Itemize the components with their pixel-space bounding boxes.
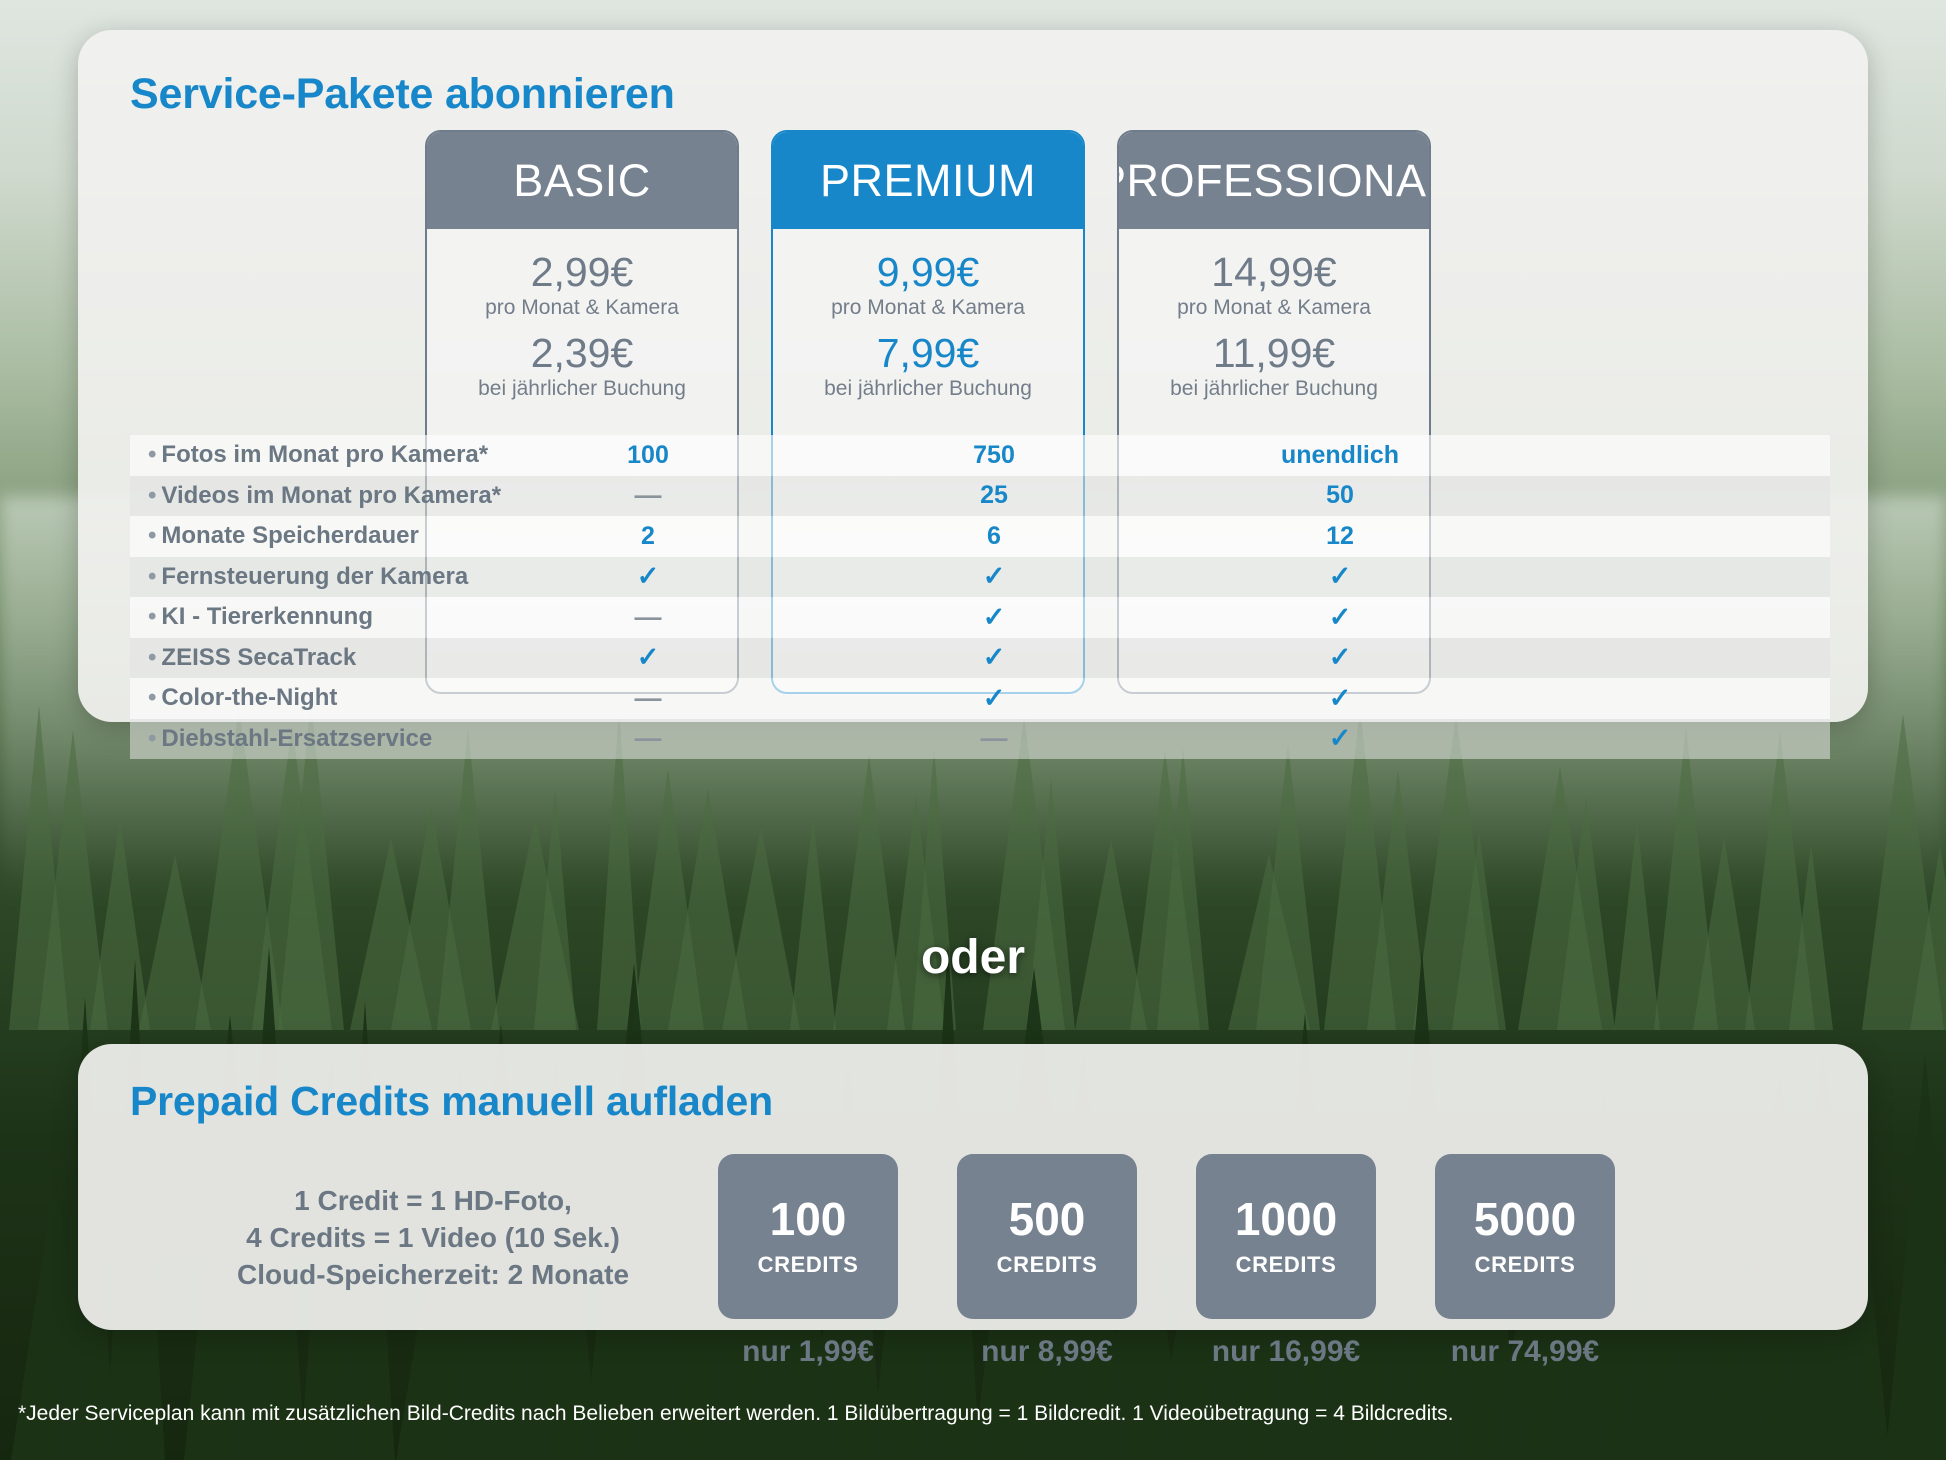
credits-title: Prepaid Credits manuell aufladen <box>130 1078 773 1125</box>
feature-value-professional: unendlich <box>1167 441 1513 470</box>
bullet-icon: • <box>148 684 156 711</box>
plan-yearly-sub-basic: bei jährlicher Buchung <box>427 377 737 401</box>
bullet-icon: • <box>148 482 156 509</box>
feature-value-basic: — <box>475 723 821 754</box>
credit-pack-button-1000[interactable]: 1000CREDITS <box>1196 1154 1376 1319</box>
credit-pack-price: nur 74,99€ <box>1435 1335 1615 1369</box>
feature-row: •Fotos im Monat pro Kamera*100750unendli… <box>130 435 1830 476</box>
feature-value-professional: ✓ <box>1167 723 1513 754</box>
credit-pack-item: 5000CREDITSnur 74,99€ <box>1435 1154 1615 1369</box>
tree-silhouette <box>1885 1055 1946 1460</box>
plan-pricing-premium: 9,99€ pro Monat & Kamera 7,99€ bei jährl… <box>773 229 1083 401</box>
bullet-icon: • <box>148 644 156 671</box>
credit-pack-price: nur 8,99€ <box>957 1335 1137 1369</box>
feature-label: •Monate Speicherdauer <box>130 522 475 550</box>
plan-yearly-price-professional: 11,99€ <box>1119 332 1429 375</box>
bullet-icon: • <box>148 603 156 630</box>
credit-pack-unit-label: CREDITS <box>1236 1252 1337 1278</box>
plan-yearly-price-basic: 2,39€ <box>427 332 737 375</box>
feature-label-text: Fotos im Monat pro Kamera* <box>161 441 488 468</box>
feature-value-basic: 2 <box>475 522 821 551</box>
feature-value-basic: — <box>475 683 821 714</box>
feature-value-professional: 50 <box>1167 481 1513 510</box>
credits-info-line: Cloud-Speicherzeit: 2 Monate <box>198 1256 668 1293</box>
bullet-icon: • <box>148 725 156 752</box>
feature-value-professional: 12 <box>1167 522 1513 551</box>
feature-label: •ZEISS SecaTrack <box>130 644 475 672</box>
feature-value-premium: ✓ <box>821 642 1167 673</box>
plan-name-professional: PROFESSIONAL <box>1119 132 1429 229</box>
feature-row: •Fernsteuerung der Kamera✓✓✓ <box>130 557 1830 598</box>
plan-monthly-sub-basic: pro Monat & Kamera <box>427 296 737 320</box>
feature-value-premium: ✓ <box>821 602 1167 633</box>
credits-info-text: 1 Credit = 1 HD-Foto,4 Credits = 1 Video… <box>198 1182 668 1294</box>
plan-monthly-price-premium: 9,99€ <box>773 251 1083 294</box>
feature-value-premium: ✓ <box>821 683 1167 714</box>
feature-label: •KI - Tiererkennung <box>130 603 475 631</box>
feature-label-text: Color-the-Night <box>161 684 337 711</box>
plan-pricing-basic: 2,99€ pro Monat & Kamera 2,39€ bei jährl… <box>427 229 737 401</box>
credit-pack-price: nur 1,99€ <box>718 1335 898 1369</box>
feature-label: •Fotos im Monat pro Kamera* <box>130 441 475 469</box>
credit-pack-amount: 100 <box>770 1196 847 1242</box>
feature-label: •Diebstahl-Ersatzservice <box>130 725 475 753</box>
plan-yearly-sub-professional: bei jährlicher Buchung <box>1119 377 1429 401</box>
feature-value-basic: ✓ <box>475 642 821 673</box>
credit-pack-unit-label: CREDITS <box>758 1252 859 1278</box>
credit-pack-list: 100CREDITSnur 1,99€500CREDITSnur 8,99€10… <box>718 1154 1615 1369</box>
page-title: Service-Pakete abonnieren <box>130 70 675 119</box>
feature-row: •Color-the-Night—✓✓ <box>130 678 1830 719</box>
feature-value-premium: ✓ <box>821 561 1167 592</box>
plan-monthly-price-professional: 14,99€ <box>1119 251 1429 294</box>
plan-monthly-sub-professional: pro Monat & Kamera <box>1119 296 1429 320</box>
credits-info-line: 1 Credit = 1 HD-Foto, <box>198 1182 668 1219</box>
credit-pack-unit-label: CREDITS <box>1475 1252 1576 1278</box>
feature-value-premium: 750 <box>821 441 1167 470</box>
feature-comparison-table: •Fotos im Monat pro Kamera*100750unendli… <box>130 435 1830 759</box>
feature-value-professional: ✓ <box>1167 642 1513 673</box>
feature-value-premium: 6 <box>821 522 1167 551</box>
credit-pack-item: 100CREDITSnur 1,99€ <box>718 1154 898 1369</box>
plan-yearly-price-premium: 7,99€ <box>773 332 1083 375</box>
credit-pack-button-5000[interactable]: 5000CREDITS <box>1435 1154 1615 1319</box>
credit-pack-price: nur 16,99€ <box>1196 1335 1376 1369</box>
feature-value-professional: ✓ <box>1167 602 1513 633</box>
plan-name-premium: PREMIUM <box>773 132 1083 229</box>
feature-label-text: KI - Tiererkennung <box>161 603 373 630</box>
feature-value-premium: — <box>821 723 1167 754</box>
feature-row: •Videos im Monat pro Kamera*—2550 <box>130 476 1830 517</box>
feature-row: •Diebstahl-Ersatzservice——✓ <box>130 719 1830 760</box>
feature-row: •Monate Speicherdauer2612 <box>130 516 1830 557</box>
feature-row: •KI - Tiererkennung—✓✓ <box>130 597 1830 638</box>
plan-name-basic: BASIC <box>427 132 737 229</box>
feature-label: •Fernsteuerung der Kamera <box>130 563 475 591</box>
feature-value-basic: ✓ <box>475 561 821 592</box>
plan-pricing-professional: 14,99€ pro Monat & Kamera 11,99€ bei jäh… <box>1119 229 1429 401</box>
feature-label-text: ZEISS SecaTrack <box>161 644 356 671</box>
feature-value-basic: — <box>475 602 821 633</box>
credit-pack-unit-label: CREDITS <box>997 1252 1098 1278</box>
credit-pack-button-500[interactable]: 500CREDITS <box>957 1154 1137 1319</box>
plan-monthly-sub-premium: pro Monat & Kamera <box>773 296 1083 320</box>
credit-pack-item: 1000CREDITSnur 16,99€ <box>1196 1154 1376 1369</box>
feature-value-professional: ✓ <box>1167 683 1513 714</box>
bullet-icon: • <box>148 441 156 468</box>
credit-pack-amount: 1000 <box>1235 1196 1337 1242</box>
bullet-icon: • <box>148 563 156 590</box>
bullet-icon: • <box>148 522 156 549</box>
feature-value-premium: 25 <box>821 481 1167 510</box>
feature-label-text: Fernsteuerung der Kamera <box>161 563 468 590</box>
feature-label-text: Monate Speicherdauer <box>161 522 418 549</box>
feature-row: •ZEISS SecaTrack✓✓✓ <box>130 638 1830 679</box>
feature-label: •Videos im Monat pro Kamera* <box>130 482 475 510</box>
credit-pack-button-100[interactable]: 100CREDITS <box>718 1154 898 1319</box>
plan-monthly-price-basic: 2,99€ <box>427 251 737 294</box>
separator-label: oder <box>0 930 1946 985</box>
credit-pack-item: 500CREDITSnur 8,99€ <box>957 1154 1137 1369</box>
feature-label-text: Videos im Monat pro Kamera* <box>161 482 501 509</box>
feature-value-professional: ✓ <box>1167 561 1513 592</box>
service-packages-panel: Service-Pakete abonnieren BASIC 2,99€ pr… <box>78 30 1868 722</box>
feature-value-basic: — <box>475 480 821 511</box>
feature-value-basic: 100 <box>475 441 821 470</box>
footnote-text: *Jeder Serviceplan kann mit zusätzlichen… <box>18 1402 1946 1426</box>
prepaid-credits-panel: Prepaid Credits manuell aufladen 1 Credi… <box>78 1044 1868 1330</box>
plan-yearly-sub-premium: bei jährlicher Buchung <box>773 377 1083 401</box>
credit-pack-amount: 5000 <box>1474 1196 1576 1242</box>
credits-info-line: 4 Credits = 1 Video (10 Sek.) <box>198 1219 668 1256</box>
feature-label-text: Diebstahl-Ersatzservice <box>161 725 432 752</box>
feature-label: •Color-the-Night <box>130 684 475 712</box>
credit-pack-amount: 500 <box>1009 1196 1086 1242</box>
